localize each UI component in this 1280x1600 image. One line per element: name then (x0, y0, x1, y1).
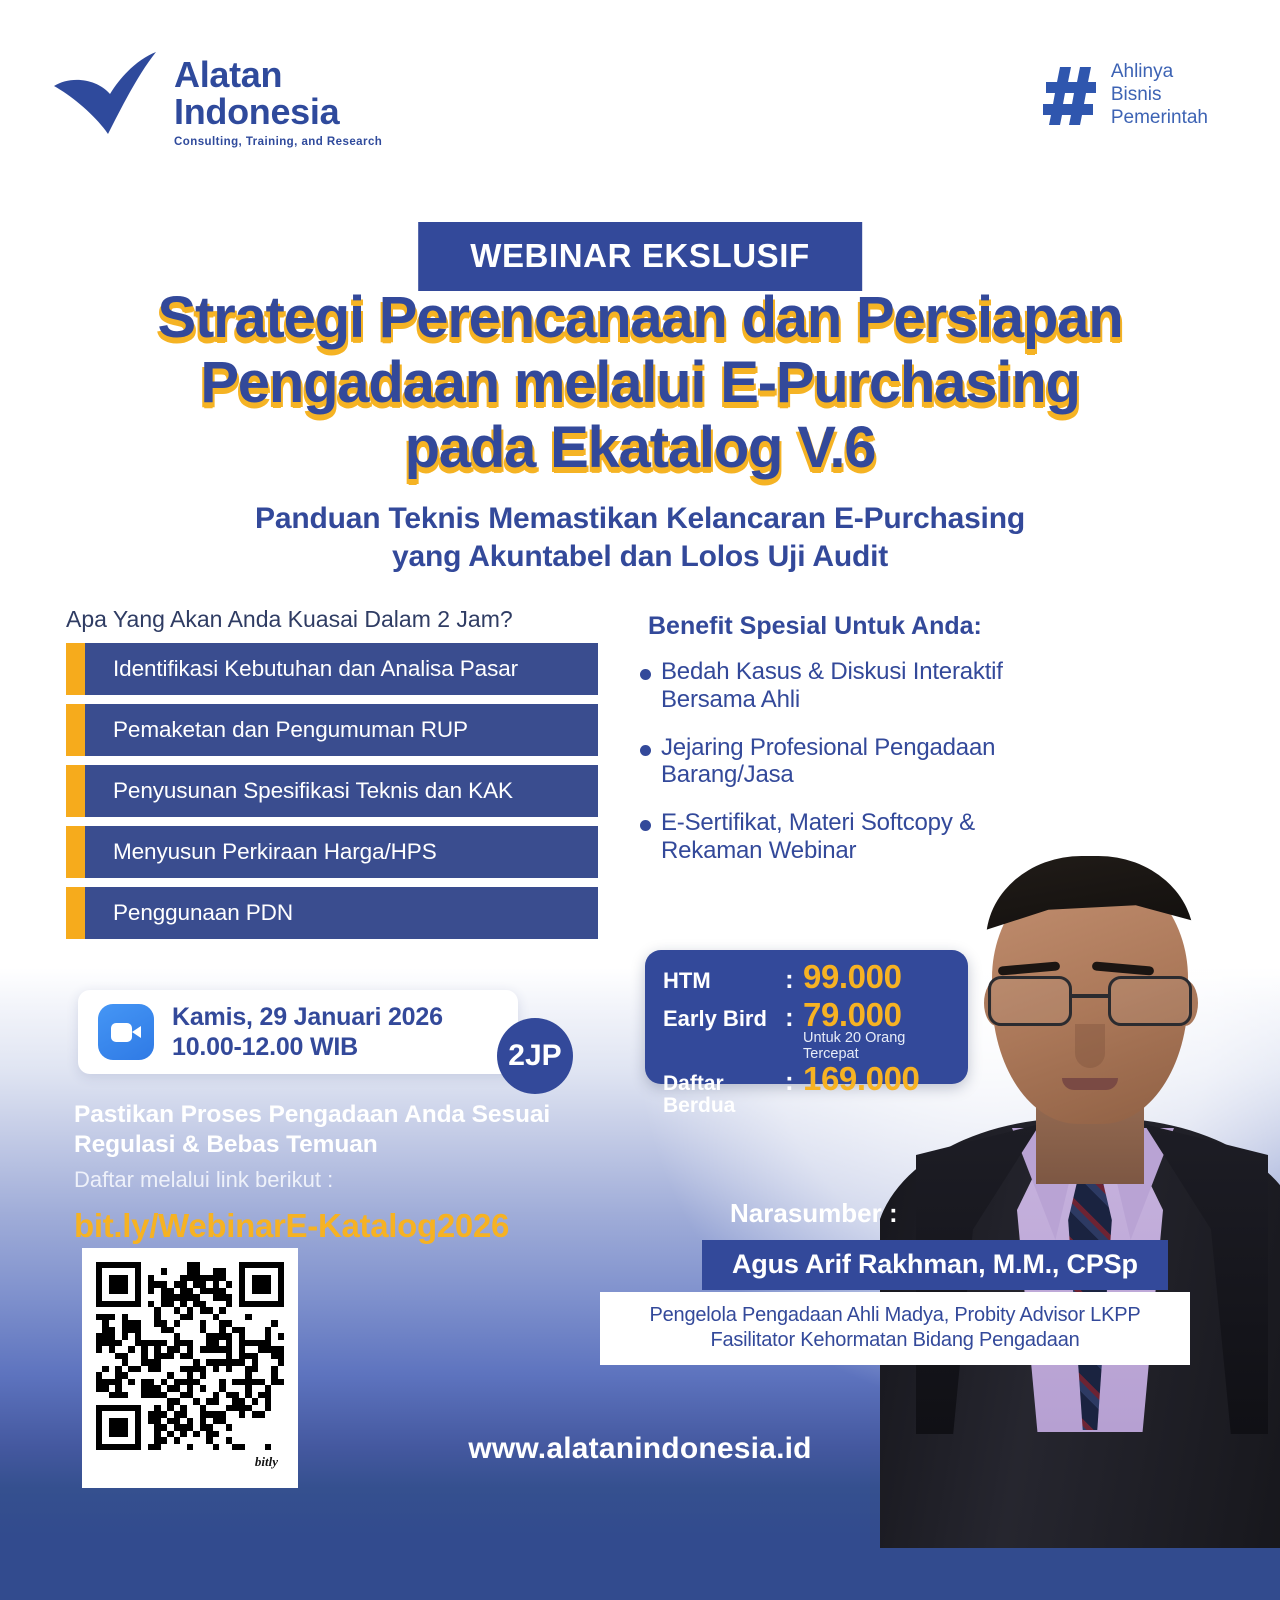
speaker-mouth (1062, 1078, 1118, 1090)
cta-block: Pastikan Proses Pengadaan Anda Sesuai Re… (74, 1100, 634, 1245)
brand-tag-line-1: Ahlinya (1111, 60, 1208, 83)
eyeglasses-icon (984, 974, 1196, 1030)
qr-code-matrix (96, 1262, 284, 1450)
topic-accent-bar (66, 765, 85, 817)
schedule-text: Kamis, 29 Januari 2026 10.00-12.00 WIB (172, 1002, 443, 1062)
pricing-card: HTM : 99.000 Early Bird : 79.000 Untuk 2… (645, 950, 968, 1084)
schedule-time: 10.00-12.00 WIB (172, 1032, 443, 1062)
title-line-2: Pengadaan melalui E-Purchasing (0, 353, 1280, 412)
topic-body: Pemaketan dan Pengumuman RUP (85, 704, 598, 756)
pricing-value: 99.000 (803, 958, 902, 996)
topics-heading: Apa Yang Akan Anda Kuasai Dalam 2 Jam? (66, 606, 513, 633)
page-title: Strategi Perencanaan dan Persiapan Penga… (0, 288, 1280, 477)
pricing-label: HTM (663, 968, 785, 994)
list-item: Jejaring Profesional Pengadaan Barang/Ja… (640, 734, 1050, 790)
webinar-type-badge: WEBINAR EKSLUSIF (418, 222, 862, 291)
topics-list: Identifikasi Kebutuhan dan Analisa Pasar… (66, 643, 598, 948)
topic-label: Penggunaan PDN (113, 900, 293, 926)
list-item: Penggunaan PDN (66, 887, 598, 939)
topic-label: Menyusun Perkiraan Harga/HPS (113, 839, 437, 865)
topic-body: Penyusunan Spesifikasi Teknis dan KAK (85, 765, 598, 817)
logo-line-1: Alatan (174, 56, 382, 93)
speaker-credentials: Pengelola Pengadaan Ahli Madya, Probity … (600, 1292, 1190, 1365)
zoom-video-icon (98, 1004, 154, 1060)
brand-tagline-block: Ahlinya Bisnis Pemerintah (1043, 60, 1208, 130)
title-line-1: Strategi Perencanaan dan Persiapan (0, 288, 1280, 347)
list-item: Menyusun Perkiraan Harga/HPS (66, 826, 598, 878)
brand-logo: Alatan Indonesia Consulting, Training, a… (52, 50, 382, 148)
schedule-date: Kamis, 29 Januari 2026 (172, 1002, 443, 1032)
pricing-value: 79.000 (803, 996, 902, 1034)
pricing-row-htm: HTM : 99.000 (663, 958, 963, 996)
pricing-row-duo: Daftar Berdua : 169.000 (663, 1060, 963, 1117)
topic-accent-bar (66, 643, 85, 695)
camera-lens (132, 1026, 141, 1038)
cta-headline-line-1: Pastikan Proses Pengadaan Anda Sesuai (74, 1100, 634, 1130)
cta-headline: Pastikan Proses Pengadaan Anda Sesuai Re… (74, 1100, 634, 1160)
brand-tagline-lines: Ahlinya Bisnis Pemerintah (1111, 60, 1208, 130)
registration-link[interactable]: bit.ly/WebinarE-Katalog2026 (74, 1207, 634, 1245)
speaker-name: Agus Arif Rakhman, M.M., CPSp (702, 1240, 1168, 1290)
schedule-card: Kamis, 29 Januari 2026 10.00-12.00 WIB (78, 990, 518, 1074)
pricing-label: Early Bird (663, 1006, 785, 1032)
pricing-label: Daftar Berdua (663, 1071, 785, 1117)
topic-accent-bar (66, 887, 85, 939)
speaker-section-label: Narasumber : (730, 1198, 898, 1229)
speaker-credential-line-2: Fasilitator Kehormatan Bidang Pengadaan (610, 1328, 1180, 1353)
list-item: Penyusunan Spesifikasi Teknis dan KAK (66, 765, 598, 817)
topic-accent-bar (66, 704, 85, 756)
logo-wordmark: Alatan Indonesia Consulting, Training, a… (174, 50, 382, 148)
video-camera-glyph (111, 1023, 141, 1042)
camera-body (111, 1023, 132, 1042)
pricing-row-early-bird: Early Bird : 79.000 (663, 996, 963, 1034)
topic-label: Penyusunan Spesifikasi Teknis dan KAK (113, 778, 513, 804)
lens-bridge (1072, 994, 1108, 998)
pricing-colon: : (785, 964, 803, 995)
pricing-colon: : (785, 1002, 803, 1033)
benefit-label: Jejaring Profesional Pengadaan Barang/Ja… (661, 734, 1050, 790)
hashtag-icon (1043, 65, 1097, 125)
cta-headline-line-2: Regulasi & Bebas Temuan (74, 1130, 634, 1160)
pricing-colon: : (785, 1066, 803, 1097)
lens-right (1108, 976, 1192, 1026)
lens-left (988, 976, 1072, 1026)
pricing-rows: HTM : 99.000 Early Bird : 79.000 Untuk 2… (663, 958, 963, 1117)
topic-body: Identifikasi Kebutuhan dan Analisa Pasar (85, 643, 598, 695)
topic-body: Penggunaan PDN (85, 887, 598, 939)
pricing-label-line-1: Daftar (663, 1072, 724, 1095)
bullet-dot-icon (640, 669, 651, 680)
pricing-value: 169.000 (803, 1060, 920, 1098)
cta-instruction: Daftar melalui link berikut : (74, 1167, 634, 1193)
subtitle-line-2: yang Akuntabel dan Lolos Uji Audit (0, 538, 1280, 576)
webinar-poster: Alatan Indonesia Consulting, Training, a… (0, 0, 1280, 1600)
speaker-credential-line-1: Pengelola Pengadaan Ahli Madya, Probity … (610, 1303, 1180, 1328)
speaker-nose (1075, 1024, 1105, 1068)
topic-label: Identifikasi Kebutuhan dan Analisa Pasar (113, 656, 518, 682)
topic-body: Menyusun Perkiraan Harga/HPS (85, 826, 598, 878)
title-line-3: pada Ekatalog V.6 (0, 418, 1280, 477)
checkmark-swoosh-icon (52, 50, 160, 142)
page-subtitle: Panduan Teknis Memastikan Kelancaran E-P… (0, 500, 1280, 577)
topic-accent-bar (66, 826, 85, 878)
duration-badge: 2JP (497, 1018, 573, 1094)
pricing-label-line-2: Berdua (663, 1094, 735, 1117)
logo-tagline: Consulting, Training, and Research (174, 136, 382, 148)
logo-line-2: Indonesia (174, 93, 382, 130)
brand-tag-line-2: Bisnis (1111, 83, 1208, 106)
brand-tag-line-3: Pemerintah (1111, 106, 1208, 129)
benefits-heading: Benefit Spesial Untuk Anda: (648, 612, 982, 641)
list-item: Identifikasi Kebutuhan dan Analisa Pasar (66, 643, 598, 695)
bullet-dot-icon (640, 820, 651, 831)
footer-website[interactable]: www.alatanindonesia.id (0, 1432, 1280, 1466)
pricing-note: Untuk 20 Orang Tercepat (803, 1030, 963, 1062)
benefit-label: Bedah Kasus & Diskusi Interaktif Bersama… (661, 658, 1050, 714)
bullet-dot-icon (640, 745, 651, 756)
topic-label: Pemaketan dan Pengumuman RUP (113, 717, 468, 743)
list-item: Bedah Kasus & Diskusi Interaktif Bersama… (640, 658, 1050, 714)
list-item: Pemaketan dan Pengumuman RUP (66, 704, 598, 756)
subtitle-line-1: Panduan Teknis Memastikan Kelancaran E-P… (0, 500, 1280, 538)
